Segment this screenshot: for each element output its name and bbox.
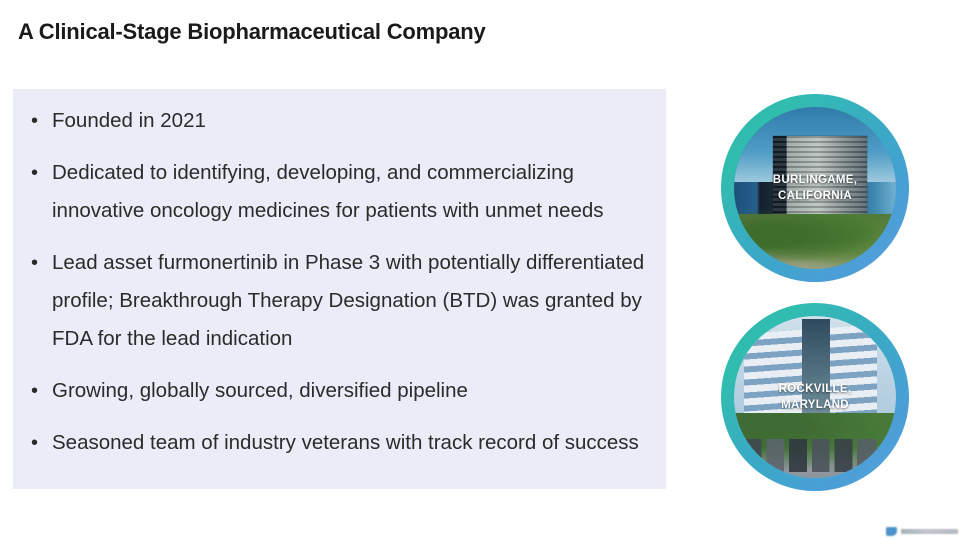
bullet-list: • Founded in 2021 • Dedicated to identif… (30, 102, 655, 476)
list-item-text: Growing, globally sourced, diversified p… (52, 372, 655, 410)
list-item: • Growing, globally sourced, diversified… (30, 372, 655, 410)
location-city: BURLINGAME, (734, 172, 896, 188)
bullet-dot-icon: • (30, 372, 52, 410)
location-label: ROCKVILLE, MARYLAND (734, 381, 896, 413)
bullet-dot-icon: • (30, 424, 52, 462)
list-item-text: Dedicated to identifying, developing, an… (52, 154, 655, 230)
logo-wordmark (901, 529, 958, 534)
location-badge-burlingame: BURLINGAME, CALIFORNIA (721, 94, 909, 282)
bullet-panel: • Founded in 2021 • Dedicated to identif… (13, 89, 666, 489)
list-item-text: Seasoned team of industry veterans with … (52, 424, 655, 462)
list-item-text: Founded in 2021 (52, 102, 655, 140)
office-photo-burlingame: BURLINGAME, CALIFORNIA (734, 107, 896, 269)
list-item: • Founded in 2021 (30, 102, 655, 140)
parking-lot (734, 439, 896, 471)
location-city: ROCKVILLE, (734, 381, 896, 397)
office-photo-rockville: ROCKVILLE, MARYLAND (734, 316, 896, 478)
location-label: BURLINGAME, CALIFORNIA (734, 172, 896, 204)
bullet-dot-icon: • (30, 102, 52, 140)
location-state: CALIFORNIA (734, 188, 896, 204)
location-state: MARYLAND (734, 397, 896, 413)
landscaping (734, 214, 896, 269)
list-item: • Seasoned team of industry veterans wit… (30, 424, 655, 462)
bullet-dot-icon: • (30, 154, 52, 192)
logo-mark-icon (886, 527, 897, 536)
bullet-dot-icon: • (30, 244, 52, 282)
list-item: • Dedicated to identifying, developing, … (30, 154, 655, 230)
page-title: A Clinical-Stage Biopharmaceutical Compa… (18, 19, 486, 45)
list-item-text: Lead asset furmonertinib in Phase 3 with… (52, 244, 655, 358)
company-logo (886, 524, 958, 539)
location-badge-rockville: ROCKVILLE, MARYLAND (721, 303, 909, 491)
list-item: • Lead asset furmonertinib in Phase 3 wi… (30, 244, 655, 358)
